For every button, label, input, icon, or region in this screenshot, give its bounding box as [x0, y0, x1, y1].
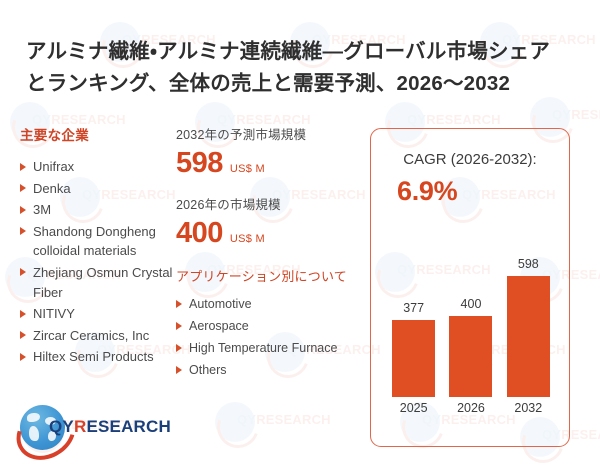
forecast-size-value: 598 [176, 147, 223, 180]
company-label: Hiltex Semi Products [33, 349, 154, 364]
triangle-bullet-icon [20, 268, 26, 276]
company-label: Shandong Dongheng colloidal materials [33, 224, 156, 259]
company-label: Denka [33, 181, 71, 196]
key-companies-list: Unifrax Denka 3M Shandong Dongheng collo… [20, 157, 180, 367]
triangle-bullet-icon [20, 310, 26, 318]
triangle-bullet-icon [20, 184, 26, 192]
forecast-size-figure: 598 US$ M [176, 147, 366, 180]
forecast-size-unit: US$ M [230, 163, 265, 175]
base-size-label: 2026年の市場規模 [176, 194, 366, 213]
qyresearch-logo: QYRESEARCH [14, 404, 164, 452]
infographic-page: QYRESEARCHQYRESEARCHQYRESEARCHQYRESEARCH… [0, 0, 600, 466]
bar-column: 400 [448, 241, 494, 397]
list-item: Shandong Dongheng colloidal materials [20, 222, 180, 261]
list-item: NITIVY [20, 304, 180, 324]
chart-bars: 377400598 [385, 241, 557, 397]
list-item: Hiltex Semi Products [20, 347, 180, 367]
title-line-2: とランキング、全体の売上と需要予測、2026～2032 [26, 68, 571, 100]
triangle-bullet-icon [176, 300, 182, 308]
list-item: Unifrax [20, 157, 180, 177]
bar-rect [507, 276, 550, 397]
base-size-unit: US$ M [230, 233, 265, 245]
applications-list: Automotive Aerospace High Temperature Fu… [176, 294, 366, 380]
company-label: Zhejiang Osmun Crystal Fiber [33, 265, 172, 300]
company-label: Unifrax [33, 159, 74, 174]
triangle-bullet-icon [20, 206, 26, 214]
key-companies-heading: 主要な企業 [20, 124, 180, 144]
logo-text-qy: QY [49, 417, 74, 436]
list-item: Zhejiang Osmun Crystal Fiber [20, 263, 180, 302]
cagr-value: 6.9% [397, 176, 457, 207]
triangle-bullet-icon [176, 322, 182, 330]
x-axis-label: 2026 [448, 401, 494, 415]
chart-x-axis-labels: 202520262032 [385, 401, 557, 415]
application-label: Others [189, 363, 227, 377]
base-size-figure: 400 US$ M [176, 217, 366, 250]
base-size-value: 400 [176, 217, 223, 250]
bar-column: 377 [391, 241, 437, 397]
list-item: High Temperature Furnace [176, 338, 366, 358]
company-label: 3M [33, 202, 51, 217]
market-size-section: 2032年の予測市場規模 598 US$ M 2026年の市場規模 400 US… [176, 124, 366, 382]
application-label: High Temperature Furnace [189, 341, 337, 355]
cagr-chart-panel: CAGR (2026-2032): 6.9% 377400598 2025202… [370, 128, 570, 447]
application-label: Aerospace [189, 319, 249, 333]
page-title: アルミナ繊維・アルミナ連続繊維―グローバル市場シェア とランキング、全体の売上と… [26, 36, 571, 100]
list-item: Denka [20, 179, 180, 199]
x-axis-label: 2032 [505, 401, 551, 415]
bar-rect [392, 320, 435, 397]
bar-value-label: 598 [518, 257, 539, 271]
application-label: Automotive [189, 297, 252, 311]
bar-column: 598 [505, 241, 551, 397]
triangle-bullet-icon [20, 353, 26, 361]
title-line-1: アルミナ繊維・アルミナ連続繊維―グローバル市場シェア [26, 36, 571, 68]
triangle-bullet-icon [20, 163, 26, 171]
list-item: Automotive [176, 294, 366, 314]
list-item: Others [176, 360, 366, 380]
list-item: Zircar Ceramics, Inc [20, 326, 180, 346]
forecast-size-label: 2032年の予測市場規模 [176, 124, 366, 143]
logo-text-esearch: ESEARCH [86, 417, 171, 436]
bar-rect [449, 316, 492, 397]
company-label: Zircar Ceramics, Inc [33, 328, 149, 343]
applications-heading: アプリケーション別について [176, 266, 366, 285]
triangle-bullet-icon [20, 227, 26, 235]
bar-value-label: 400 [461, 297, 482, 311]
market-size-bar-chart: 377400598 202520262032 [385, 241, 557, 432]
logo-text: QYRESEARCH [49, 417, 171, 437]
triangle-bullet-icon [176, 344, 182, 352]
key-companies-section: 主要な企業 Unifrax Denka 3M Shandong Dongheng… [20, 124, 180, 369]
bar-value-label: 377 [403, 301, 424, 315]
cagr-label: CAGR (2026-2032): [403, 151, 536, 168]
list-item: Aerospace [176, 316, 366, 336]
logo-text-r: R [74, 417, 86, 436]
list-item: 3M [20, 200, 180, 220]
x-axis-label: 2025 [391, 401, 437, 415]
company-label: NITIVY [33, 306, 75, 321]
triangle-bullet-icon [176, 366, 182, 374]
triangle-bullet-icon [20, 331, 26, 339]
